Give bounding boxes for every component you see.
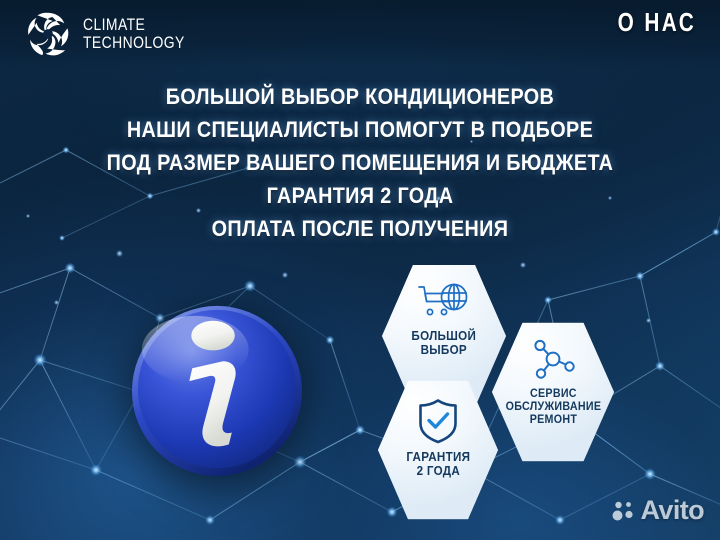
avito-dots-icon [612,499,636,523]
shopping-cart-globe-icon [417,282,471,322]
feature-hex-service-label-line-2: ОБСЛУЖИВАНИЕ [505,401,601,414]
avito-wordmark: Avito [641,495,705,526]
network-nodes-icon [529,338,577,382]
feature-hex-service-label-line-1: СЕРВИС [505,388,601,401]
feature-hex-warranty[interactable]: ГАРАНТИЯ 2 ГОДА [378,378,498,522]
turbine-fan-spiral-logo-icon [22,8,74,60]
feature-hex-warranty-label: ГАРАНТИЯ 2 ГОДА [406,450,470,478]
brand-line-2: TECHNOLOGY [83,34,185,52]
feature-hex-service[interactable]: СЕРВИС ОБСЛУЖИВАНИЕ РЕМОНТ [492,320,614,464]
brand-line-1: CLIMATE [83,16,185,34]
feature-hex-choice-label-line-2: ВЫБОР [412,343,477,357]
feature-hex-warranty-label-line-2: 2 ГОДА [406,464,470,478]
brand-logo[interactable]: CLIMATE TECHNOLOGY [22,8,207,60]
brand-wordmark: CLIMATE TECHNOLOGY [83,16,185,51]
header-bar: CLIMATE TECHNOLOGY О НАС [0,0,720,68]
feature-hex-service-label: СЕРВИС ОБСЛУЖИВАНИЕ РЕМОНТ [505,388,601,427]
feature-hex-service-label-line-3: РЕМОНТ [505,414,601,427]
feature-hexagons: БОЛЬШОЙ ВЫБОР СЕРВИС ОБСЛУЖИВАНИЕ РЕМОНТ [0,0,720,540]
feature-hex-choice-label: БОЛЬШОЙ ВЫБОР [412,329,477,357]
slide-canvas: CLIMATE TECHNOLOGY О НАС БОЛЬШОЙ ВЫБОР К… [0,0,720,540]
avito-watermark: Avito [612,495,705,526]
page-title: О НАС [617,7,696,38]
feature-hex-choice-label-line-1: БОЛЬШОЙ [412,329,477,343]
shield-check-icon [416,398,460,444]
feature-hex-warranty-label-line-1: ГАРАНТИЯ [406,450,470,464]
